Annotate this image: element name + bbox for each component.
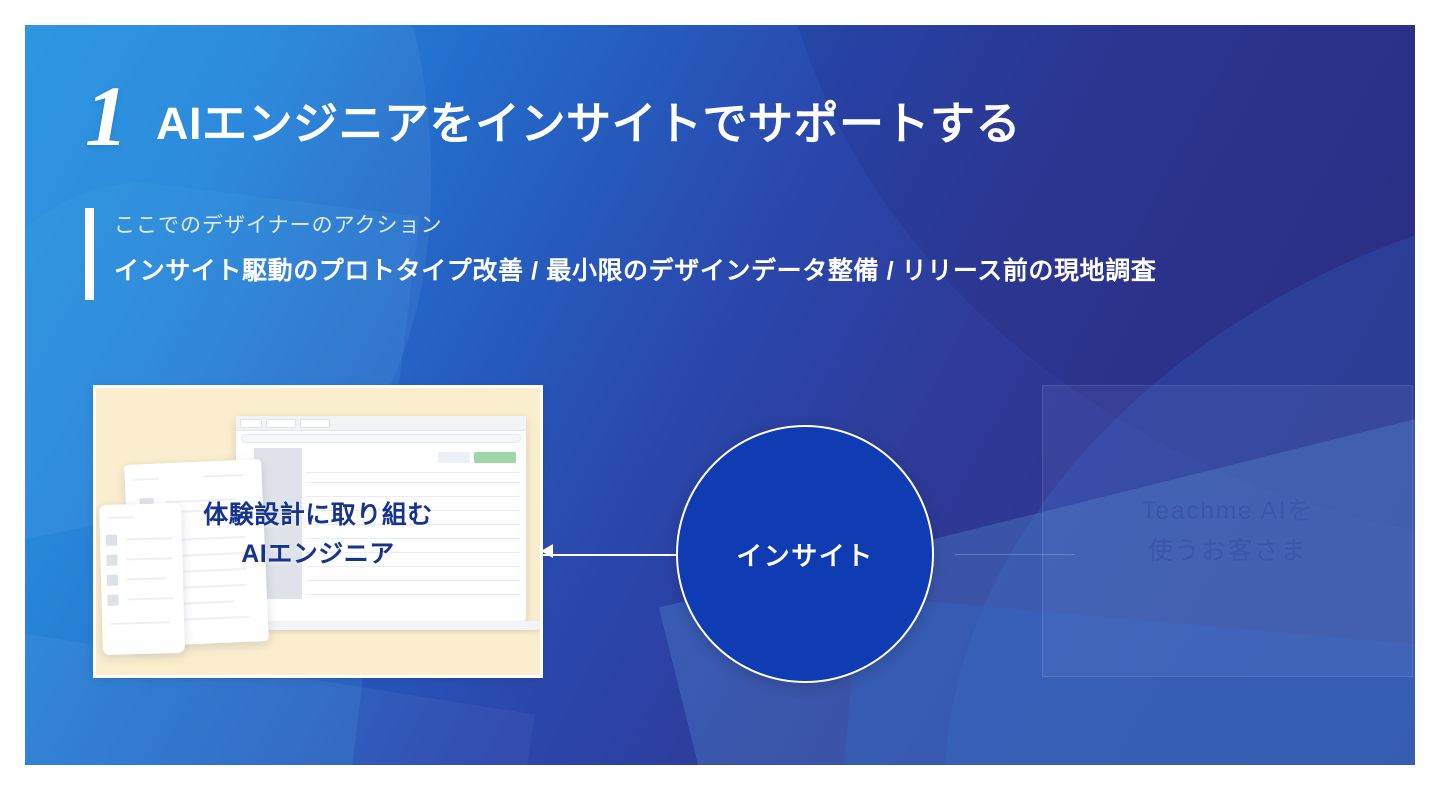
right-card-label-line2: 使うお客さま bbox=[1141, 531, 1313, 571]
browser-tab bbox=[300, 419, 330, 428]
arrow-left-icon bbox=[541, 544, 553, 558]
left-card-label-line1: 体験設計に取り組む bbox=[96, 496, 540, 535]
mock-button bbox=[438, 452, 470, 463]
left-card-ai-engineer[interactable]: 体験設計に取り組む AIエンジニア bbox=[93, 385, 543, 678]
left-card-label: 体験設計に取り組む AIエンジニア bbox=[96, 496, 540, 574]
center-circle-label: インサイト bbox=[736, 536, 874, 573]
diagram: 体験設計に取り組む AIエンジニア インサイト Teachme AIを 使うお客… bbox=[25, 25, 1415, 765]
browser-urlbar bbox=[241, 434, 521, 443]
right-card-label: Teachme AIを 使うお客さま bbox=[1141, 491, 1313, 571]
browser-tabbar bbox=[236, 416, 526, 431]
browser-tab bbox=[266, 419, 296, 428]
slide-frame: 1 AIエンジニアをインサイトでサポートする ここでのデザイナーのアクション イ… bbox=[25, 25, 1415, 765]
right-card-customers[interactable]: Teachme AIを 使うお客さま bbox=[1042, 385, 1413, 677]
center-circle-insight[interactable]: インサイト bbox=[676, 425, 934, 683]
mock-primary-button bbox=[474, 452, 516, 463]
connector-line-left bbox=[543, 554, 679, 556]
left-card-label-line2: AIエンジニア bbox=[96, 535, 540, 574]
browser-tab bbox=[240, 419, 262, 428]
right-card-label-line1: Teachme AIを bbox=[1141, 491, 1313, 531]
